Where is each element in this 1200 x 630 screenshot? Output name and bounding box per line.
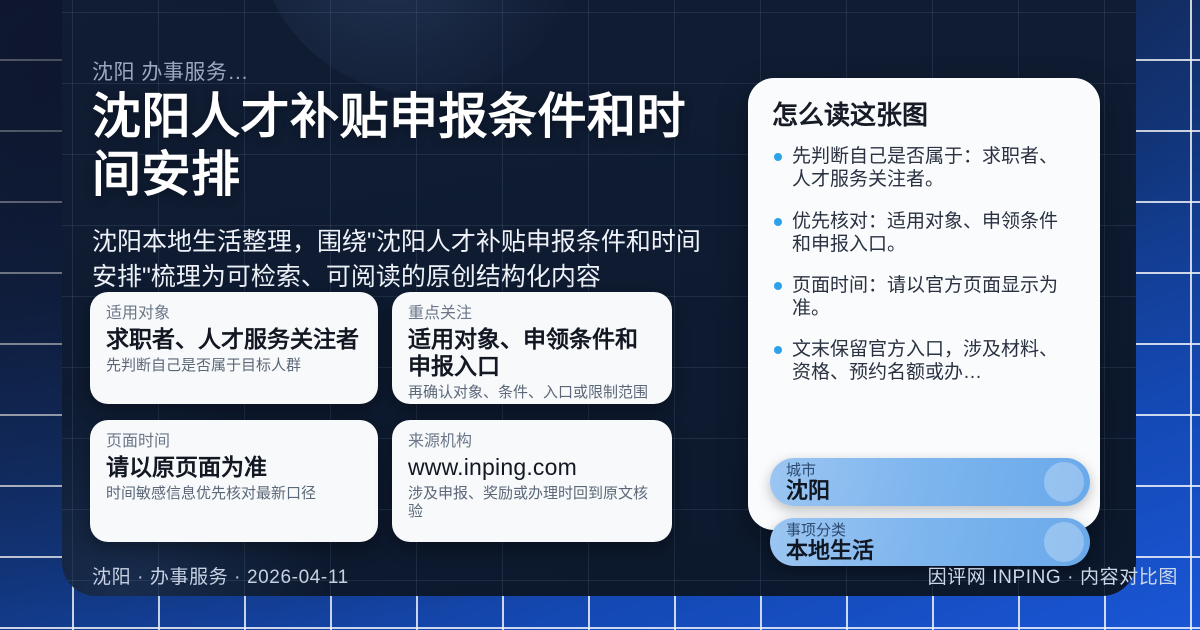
info-card-grid: 适用对象 求职者、人才服务关注者 先判断自己是否属于目标人群 重点关注 适用对象… [90,292,674,542]
info-card-note: 先判断自己是否属于目标人群 [106,357,362,375]
tag-pill-label: 城市 [786,463,1074,479]
guide-bullet-item: 页面时间：请以官方页面显示为准。 [772,274,1076,320]
bullet-dot-icon [774,346,782,354]
info-card-value: 适用对象、申领条件和申报入口 [408,326,656,380]
tag-pill-value: 本地生活 [786,539,1074,562]
guide-bullet-text: 优先核对：适用对象、申领条件和申报入口。 [792,211,1058,255]
guide-title: 怎么读这张图 [772,100,1076,131]
bullet-dot-icon [774,218,782,226]
info-card-label: 适用对象 [106,304,362,324]
info-card-label: 重点关注 [408,304,656,324]
header-block: 沈阳 办事服务… 沈阳人才补贴申报条件和时间安排 沈阳本地生活整理，围绕"沈阳人… [92,60,732,296]
guide-bullet-text: 先判断自己是否属于：求职者、人才服务关注者。 [792,146,1058,190]
page-subtitle: 沈阳本地生活整理，围绕"沈阳人才补贴申报条件和时间安排"梳理为可检索、可阅读的原… [92,225,712,296]
guide-bullet-item: 优先核对：适用对象、申领条件和申报入口。 [772,210,1076,256]
guide-bullet-item: 文末保留官方入口，涉及材料、资格、预约名额或办… [772,338,1076,384]
info-card: 重点关注 适用对象、申领条件和申报入口 再确认对象、条件、入口或限制范围 [392,292,672,404]
footer-left: 沈阳 · 办事服务 · 2026-04-11 [92,562,349,589]
guide-bullet-list: 先判断自己是否属于：求职者、人才服务关注者。 优先核对：适用对象、申领条件和申报… [772,145,1076,384]
info-card-label: 页面时间 [106,432,362,452]
tag-pill-label: 事项分类 [786,523,1074,539]
tag-pill-category[interactable]: 事项分类 本地生活 [770,518,1090,566]
tag-pill-city[interactable]: 城市 沈阳 [770,458,1090,506]
info-card-value: 求职者、人才服务关注者 [106,326,362,353]
bullet-dot-icon [774,282,782,290]
page-title: 沈阳人才补贴申报条件和时间安排 [92,89,732,205]
source-url[interactable]: www.inping.com [408,454,656,481]
info-card-note: 时间敏感信息优先核对最新口径 [106,485,362,503]
info-card-value: 请以原页面为准 [106,454,362,481]
tag-pill-value: 沈阳 [786,479,1074,502]
footer-right: 因评网 INPING · 内容对比图 [928,562,1178,589]
info-card-label: 来源机构 [408,432,656,452]
tag-pill-group: 城市 沈阳 事项分类 本地生活 [770,458,1090,578]
bullet-dot-icon [774,153,782,161]
guide-bullet-text: 文末保留官方入口，涉及材料、资格、预约名额或办… [792,339,1058,383]
info-card-note: 再确认对象、条件、入口或限制范围 [408,384,656,402]
info-card: 页面时间 请以原页面为准 时间敏感信息优先核对最新口径 [90,420,378,542]
guide-bullet-text: 页面时间：请以官方页面显示为准。 [792,275,1058,319]
info-card: 适用对象 求职者、人才服务关注者 先判断自己是否属于目标人群 [90,292,378,404]
breadcrumb: 沈阳 办事服务… [92,60,732,85]
guide-bullet-item: 先判断自己是否属于：求职者、人才服务关注者。 [772,145,1076,191]
info-card-note: 涉及申报、奖励或办理时回到原文核验 [408,485,656,521]
info-card: 来源机构 www.inping.com 涉及申报、奖励或办理时回到原文核验 [392,420,672,542]
